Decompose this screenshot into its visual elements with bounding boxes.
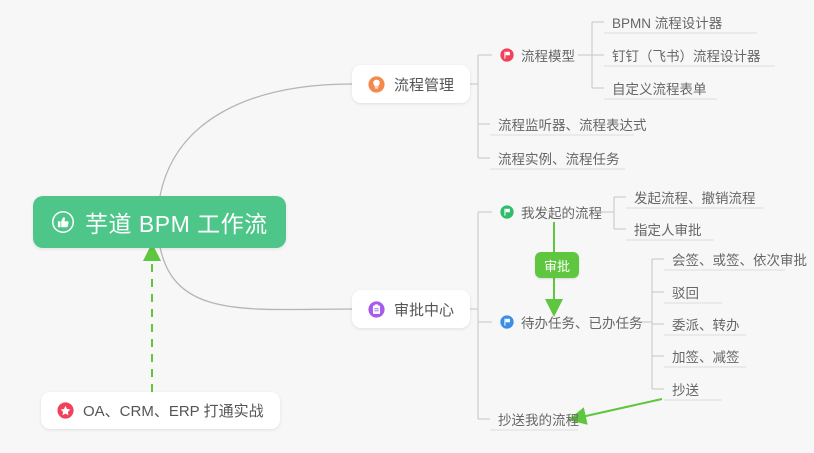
node-counter-or-sequential-sign[interactable]: 会签、或签、依次审批 [664, 244, 814, 274]
node-bpmn-designer[interactable]: BPMN 流程设计器 [604, 7, 730, 37]
node-process-listener-expression[interactable]: 流程监听器、流程表达式 [490, 109, 655, 139]
branch-approval-center[interactable]: 审批中心 [352, 290, 470, 328]
bottom-note-card[interactable]: OA、CRM、ERP 打通实战 [41, 392, 280, 429]
flag-green-icon [500, 205, 514, 219]
node-label: 发起流程、撤销流程 [634, 187, 756, 207]
node-process-instance-task[interactable]: 流程实例、流程任务 [490, 143, 628, 173]
approval-flow-tag[interactable]: 审批 [535, 252, 579, 278]
mindmap-canvas: 芋道 BPM 工作流 流程管理 流程模型 BPMN 流程设计器 钉钉（飞书）流程… [0, 0, 814, 453]
node-label: BPMN 流程设计器 [612, 12, 722, 32]
flag-blue-icon [500, 315, 514, 329]
node-cc-to-me-process[interactable]: 抄送我的流程 [490, 404, 587, 434]
node-start-cancel-process[interactable]: 发起流程、撤销流程 [626, 182, 764, 212]
node-label: 钉钉（飞书）流程设计器 [612, 45, 761, 65]
node-add-remove-sign[interactable]: 加签、减签 [664, 341, 748, 371]
star-icon [57, 402, 74, 419]
tag-label: 审批 [544, 256, 570, 275]
branch-label: 流程管理 [394, 74, 454, 95]
node-label: 待办任务、已办任务 [521, 312, 643, 332]
node-todo-done-task[interactable]: 待办任务、已办任务 [492, 307, 651, 337]
connector-root-to-approval-center [160, 247, 352, 310]
thumbs-up-icon [51, 210, 75, 234]
node-label: 加签、减签 [672, 346, 740, 366]
node-label: 自定义流程表单 [612, 78, 707, 98]
arrow-cc-to-ccmine [577, 399, 662, 418]
node-label: 我发起的流程 [521, 202, 602, 222]
node-cc[interactable]: 抄送 [664, 374, 707, 404]
node-my-initiated-process[interactable]: 我发起的流程 [492, 197, 610, 227]
flag-red-icon [500, 48, 514, 62]
root-node[interactable]: 芋道 BPM 工作流 [33, 196, 286, 248]
node-label: 流程监听器、流程表达式 [498, 114, 647, 134]
node-dingtalk-feishu-designer[interactable]: 钉钉（飞书）流程设计器 [604, 40, 769, 70]
node-label: 抄送我的流程 [498, 409, 579, 429]
lightbulb-icon [368, 76, 385, 93]
branch-process-management[interactable]: 流程管理 [352, 65, 470, 103]
node-assignee-approval[interactable]: 指定人审批 [626, 214, 710, 244]
node-reject[interactable]: 驳回 [664, 277, 707, 307]
node-label: 委派、转办 [672, 314, 740, 334]
node-label: 抄送 [672, 379, 699, 399]
node-label: 驳回 [672, 282, 699, 302]
node-process-model[interactable]: 流程模型 [492, 40, 583, 70]
node-custom-process-form[interactable]: 自定义流程表单 [604, 73, 715, 103]
node-label: 指定人审批 [634, 219, 702, 239]
branch-label: 审批中心 [394, 299, 454, 320]
clipboard-icon [368, 301, 385, 318]
bottom-note-label: OA、CRM、ERP 打通实战 [83, 400, 264, 421]
node-delegate-transfer[interactable]: 委派、转办 [664, 309, 748, 339]
node-label: 流程模型 [521, 45, 575, 65]
node-label: 流程实例、流程任务 [498, 148, 620, 168]
connector-root-to-process-management [160, 84, 352, 196]
root-label: 芋道 BPM 工作流 [85, 205, 268, 239]
node-label: 会签、或签、依次审批 [672, 249, 807, 269]
